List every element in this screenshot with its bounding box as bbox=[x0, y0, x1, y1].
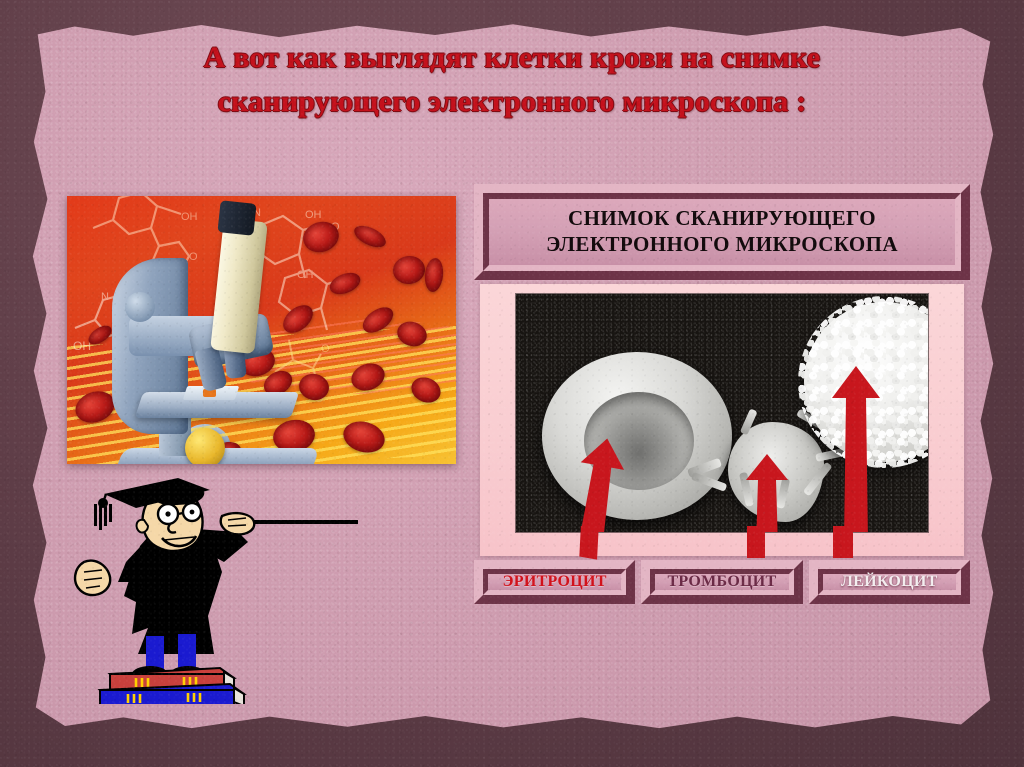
label-erythrocyte-text: ЭРИТРОЦИТ bbox=[503, 573, 607, 591]
sem-header-line-2: ЭЛЕКТРОННОГО МИКРОСКОПА bbox=[546, 232, 898, 258]
svg-text:OH: OH bbox=[181, 211, 198, 223]
rbc-disc bbox=[423, 257, 444, 293]
svg-text:O: O bbox=[321, 343, 330, 355]
arrow-tail-leukocyte bbox=[828, 526, 858, 560]
professor-cartoon bbox=[62, 476, 362, 704]
sem-photograph bbox=[516, 294, 928, 532]
arrow-to-thrombocyte bbox=[740, 452, 794, 532]
right-hand bbox=[221, 513, 255, 534]
book-stack bbox=[100, 668, 244, 704]
svg-text:O: O bbox=[189, 251, 198, 263]
microscope-eyepiece bbox=[217, 200, 256, 236]
cell-label-row: ЭРИТРОЦИТ ТРОМБОЦИТ ЛЕЙКОЦИТ bbox=[474, 560, 970, 604]
label-leukocyte[interactable]: ЛЕЙКОЦИТ bbox=[809, 560, 970, 604]
sem-header-line-1: СНИМОК СКАНИРУЮЩЕГО bbox=[568, 206, 876, 232]
label-thrombocyte-text: ТРОМБОЦИТ bbox=[667, 573, 776, 591]
sem-header-plaque: СНИМОК СКАНИРУЮЩЕГО ЭЛЕКТРОННОГО МИКРОСК… bbox=[474, 184, 970, 280]
sem-panel: СНИМОК СКАНИРУЮЩЕГО ЭЛЕКТРОННОГО МИКРОСК… bbox=[474, 184, 970, 604]
arrow-tail-erythrocyte bbox=[572, 526, 606, 560]
label-thrombocyte[interactable]: ТРОМБОЦИТ bbox=[641, 560, 802, 604]
microscope-focus-knob bbox=[185, 428, 225, 464]
pointer-stick bbox=[240, 520, 358, 524]
microscope-dial bbox=[125, 292, 155, 322]
page-title: А вот как выглядят клетки крови на снимк… bbox=[60, 36, 964, 125]
microscope-illustration: OH O N OH O OH N bbox=[67, 196, 456, 464]
label-erythrocyte[interactable]: ЭРИТРОЦИТ bbox=[474, 560, 635, 604]
slide-canvas: А вот как выглядят клетки крови на снимк… bbox=[0, 0, 1024, 767]
label-leukocyte-text: ЛЕЙКОЦИТ bbox=[841, 573, 938, 591]
arrow-tail-thrombocyte bbox=[742, 526, 770, 560]
svg-text:OH: OH bbox=[305, 209, 322, 221]
page-title-line-2: сканирующего электронного микроскопа : bbox=[60, 80, 964, 124]
arrow-to-erythrocyte bbox=[568, 436, 632, 532]
rbc-disc bbox=[391, 254, 427, 286]
arrow-to-leukocyte bbox=[826, 364, 886, 532]
left-hand bbox=[75, 561, 110, 595]
page-title-line-1: А вот как выглядят клетки крови на снимк… bbox=[60, 36, 964, 80]
svg-text:N: N bbox=[101, 292, 109, 303]
svg-text:OH: OH bbox=[297, 269, 314, 281]
sem-photo-backdrop bbox=[480, 284, 964, 556]
